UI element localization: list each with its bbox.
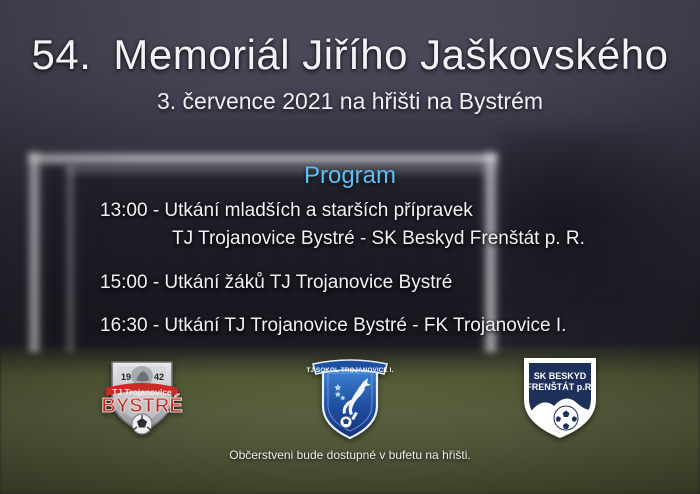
- program-heading: Program: [0, 162, 700, 190]
- schedule-row: 16:30 - Utkání TJ Trojanovice Bystré - F…: [100, 315, 566, 337]
- logo-name-line2: FRENŠTÁT p.R.: [526, 381, 594, 392]
- schedule-row: TJ Trojanovice Bystré - SK Beskyd Frenšt…: [172, 228, 585, 250]
- logo-name-line1: SK BESKYD: [534, 371, 587, 381]
- page-title: 54.Memoriál Jiřího Jaškovského: [0, 31, 700, 79]
- logo-sk-beskyd-frenstat: SK BESKYD FRENŠTÁT p.R.: [518, 352, 602, 440]
- schedule-row: 13:00 - Utkání mladších a starších přípr…: [100, 200, 473, 222]
- logo-banner-text: TJ SOKOL TROJANOVICE I.: [307, 367, 394, 374]
- schedule-row: 15:00 - Utkání žáků TJ Trojanovice Bystr…: [100, 272, 452, 294]
- refreshments-note: Občerstveni bude dostupné v bufetu na hř…: [0, 448, 700, 462]
- event-date-venue: 3. července 2021 na hřišti na Bystrém: [0, 88, 700, 115]
- logo-tj-trojanovice-bystre: 19 42 TJ Trojanovice BYSTRÉ: [96, 352, 188, 440]
- svg-text:42: 42: [154, 372, 164, 382]
- poster-image: 54.Memoriál Jiřího Jaškovského 3. červen…: [0, 0, 700, 494]
- title-text: Memoriál Jiřího Jaškovského: [113, 31, 668, 78]
- logo-tj-sokol-trojanovice-i: TJ SOKOL TROJANOVICE I.: [305, 352, 395, 442]
- club-logos: 19 42 TJ Trojanovice BYSTRÉ: [0, 352, 700, 444]
- edition-number: 54.: [32, 31, 92, 78]
- svg-text:19: 19: [121, 372, 131, 382]
